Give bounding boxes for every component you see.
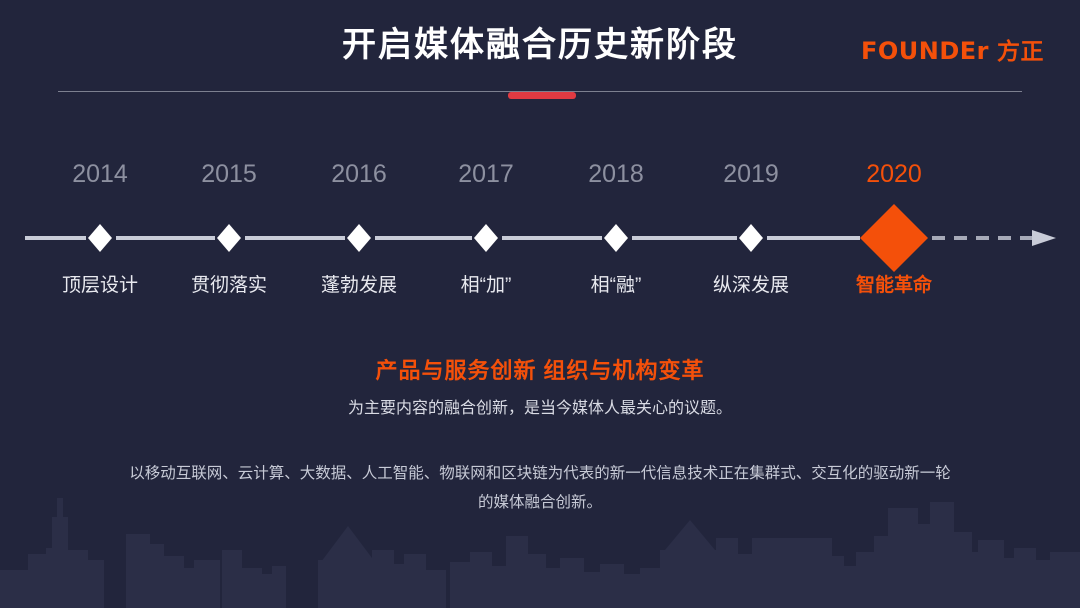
body-paragraph-line-1: 以移动互联网、云计算、大数据、人工智能、物联网和区块链为代表的新一代信息技术正在… — [0, 459, 1080, 488]
body-headline: 产品与服务创新 组织与机构变革 — [0, 356, 1080, 386]
logo-wordmark-cn: 方正 — [997, 39, 1044, 65]
body-subhead: 为主要内容的融合创新，是当今媒体人最关心的议题。 — [0, 396, 1080, 422]
title-accent-bar — [508, 92, 576, 99]
body-paragraph-line-2: 的媒体融合创新。 — [0, 488, 1080, 517]
timeline-year-2017: 2017 — [426, 160, 546, 189]
timeline-year-2014: 2014 — [40, 160, 160, 189]
timeline-year-2015: 2015 — [169, 160, 289, 189]
timeline-label-2020: 智能革命 — [809, 270, 979, 297]
logo-wordmark: FOUNDEr — [861, 37, 989, 65]
body-copy: 产品与服务创新 组织与机构变革 为主要内容的融合创新，是当今媒体人最关心的议题。… — [0, 356, 1080, 517]
slide-root: 开启媒体融合历史新阶段 FOUNDEr方正 — [0, 0, 1080, 608]
slide-header: 开启媒体融合历史新阶段 FOUNDEr方正 — [0, 0, 1080, 100]
timeline-year-2020: 2020 — [834, 160, 954, 189]
timeline-year-2016: 2016 — [299, 160, 419, 189]
body-paragraph: 以移动互联网、云计算、大数据、人工智能、物联网和区块链为代表的新一代信息技术正在… — [0, 459, 1080, 517]
timeline: 2014 2015 2016 2017 2018 2019 2020 顶层设计 … — [0, 160, 1080, 310]
timeline-year-2018: 2018 — [556, 160, 676, 189]
timeline-year-2019: 2019 — [691, 160, 811, 189]
founder-logo: FOUNDEr方正 — [861, 32, 1044, 66]
